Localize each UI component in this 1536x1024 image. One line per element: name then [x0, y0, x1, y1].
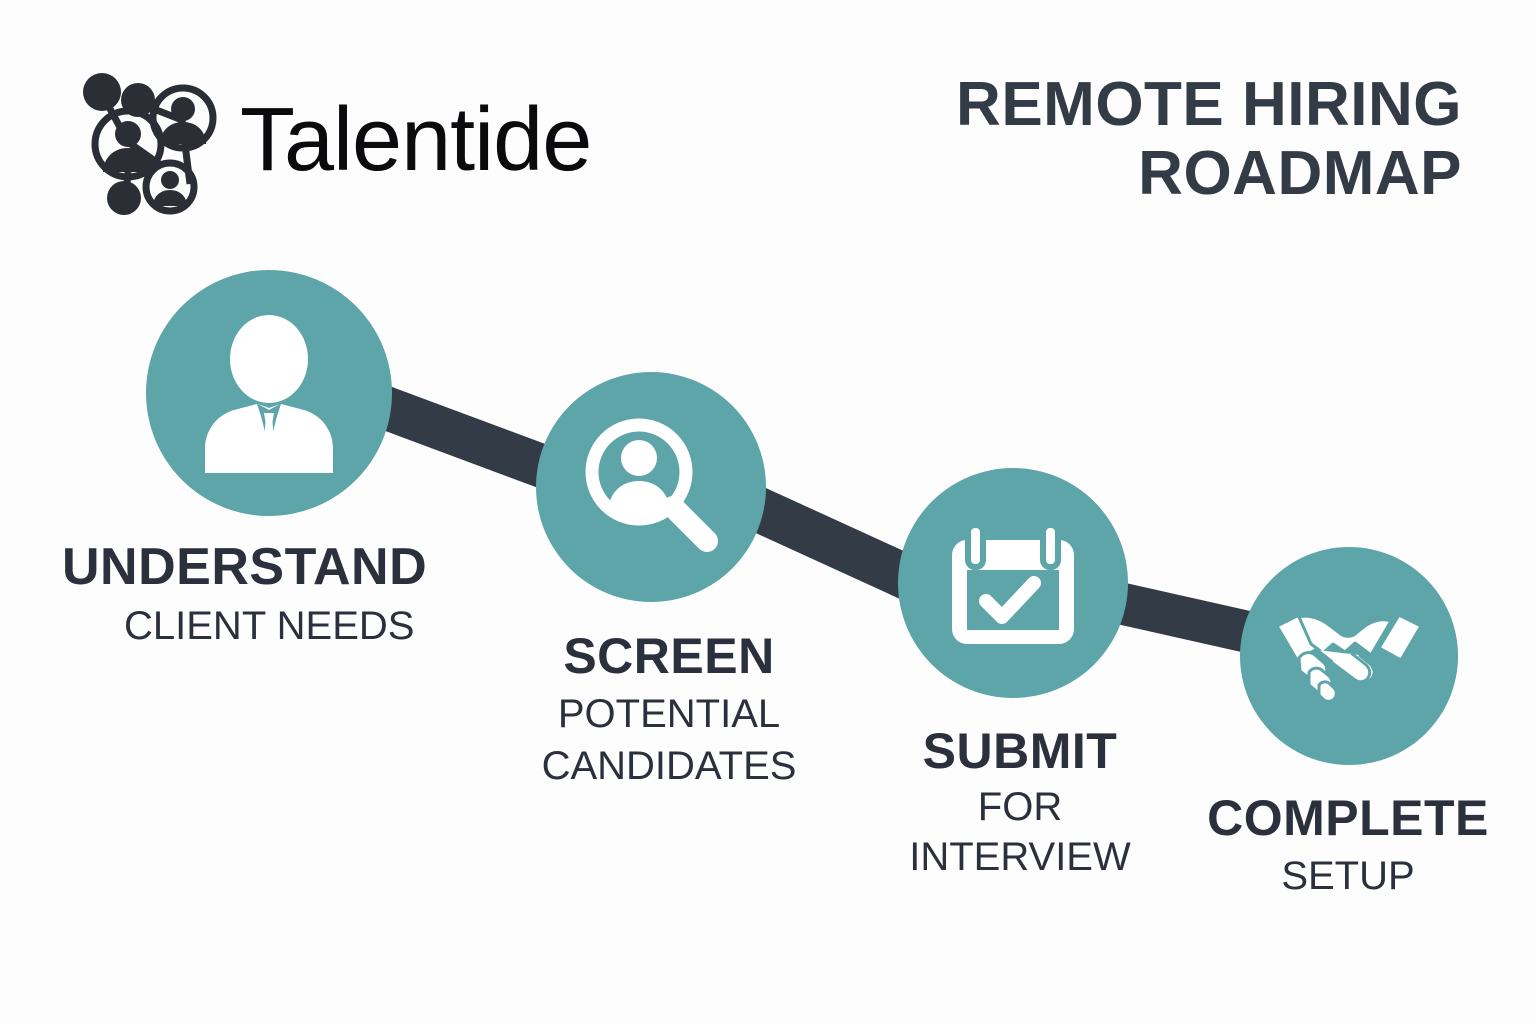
- step-complete-caption: COMPLETE SETUP: [1188, 792, 1508, 897]
- candidate-search-icon: [572, 408, 730, 566]
- step-complete-bubble[interactable]: [1240, 547, 1458, 765]
- network-people-icon: [66, 62, 226, 217]
- step-submit-bubble[interactable]: [898, 468, 1128, 698]
- step-screen-title: SCREEN: [519, 630, 819, 683]
- step-understand-bubble[interactable]: [146, 270, 392, 516]
- step-screen-bubble[interactable]: [536, 372, 766, 602]
- step-submit-caption: SUBMIT FOR INTERVIEW: [880, 725, 1160, 879]
- businessperson-icon: [194, 313, 344, 473]
- step-understand-title: UNDERSTAND: [62, 540, 427, 595]
- step-screen-subtitle-line-1: POTENTIAL: [519, 693, 819, 735]
- step-submit-subtitle-line-1: FOR: [880, 786, 1160, 828]
- step-submit-title: SUBMIT: [880, 725, 1160, 778]
- handshake-icon: [1269, 596, 1429, 716]
- brand-logo: Talentide: [66, 62, 591, 217]
- page-title: REMOTE HIRING ROADMAP: [956, 70, 1462, 209]
- step-understand-subtitle: CLIENT NEEDS: [124, 605, 427, 647]
- page-title-line-2: ROADMAP: [956, 139, 1462, 208]
- step-submit-subtitle-line-2: INTERVIEW: [880, 836, 1160, 878]
- step-screen-subtitle-line-2: CANDIDATES: [519, 745, 819, 787]
- infographic-canvas: Talentide REMOTE HIRING ROADMAP: [0, 0, 1536, 1024]
- page-title-line-1: REMOTE HIRING: [956, 70, 1462, 139]
- step-complete-title: COMPLETE: [1188, 792, 1508, 845]
- step-understand-caption: UNDERSTAND CLIENT NEEDS: [62, 540, 427, 648]
- step-complete-subtitle: SETUP: [1188, 855, 1508, 897]
- step-screen-caption: SCREEN POTENTIAL CANDIDATES: [519, 630, 819, 788]
- brand-name: Talentide: [240, 95, 591, 185]
- calendar-check-icon: [938, 508, 1088, 658]
